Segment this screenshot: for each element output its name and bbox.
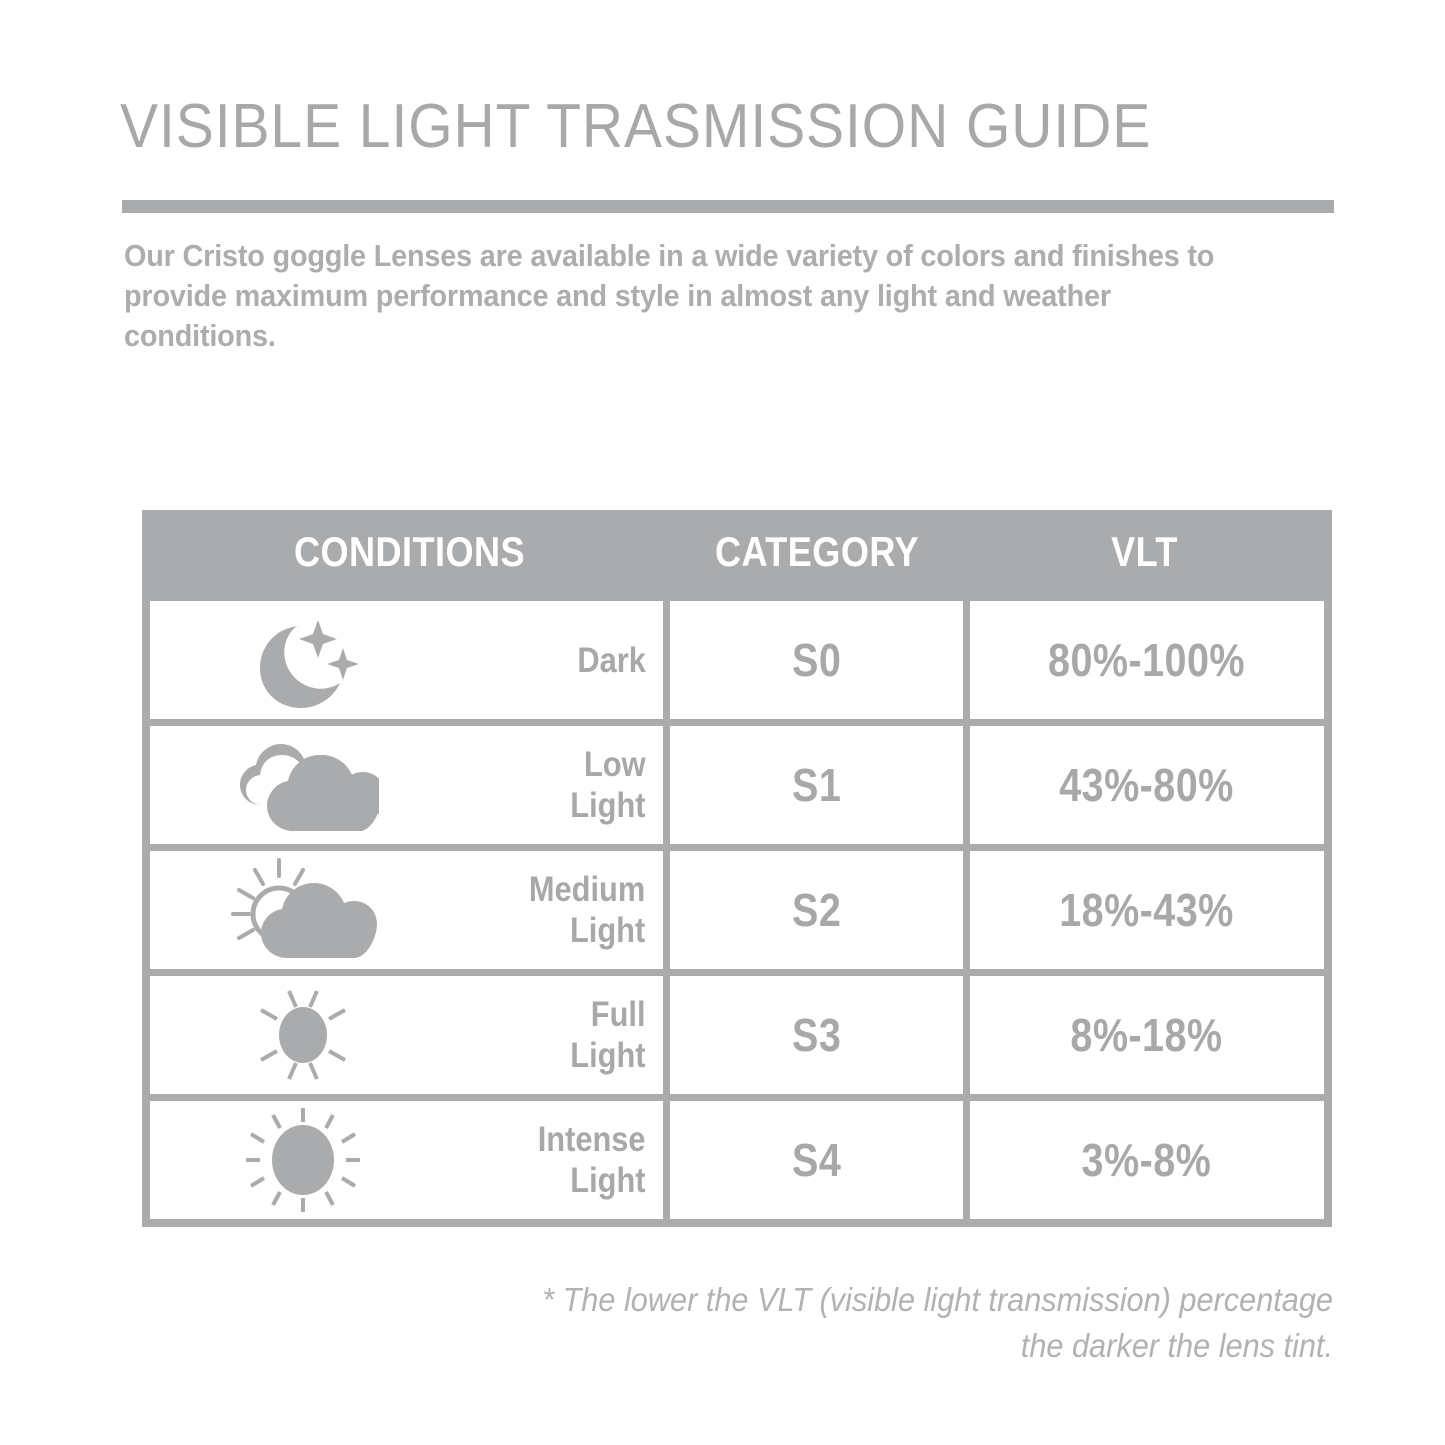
- table-row: Low Light S1 43%-80%: [150, 726, 1324, 844]
- condition-label: Dark: [577, 640, 645, 681]
- vlt-label: 43%-80%: [1060, 758, 1235, 812]
- category-label: S0: [792, 633, 841, 687]
- condition-label: Medium Light: [529, 869, 645, 951]
- conditions-cell: Full Light: [150, 976, 663, 1094]
- column-header-conditions: CONDITIONS: [186, 528, 632, 576]
- vlt-label: 18%-43%: [1060, 883, 1235, 937]
- category-label: S4: [792, 1133, 841, 1187]
- vlt-cell: 43%-80%: [970, 726, 1324, 844]
- vlt-guide-page: VISIBLE LIGHT TRASMISSION GUIDE Our Cris…: [0, 0, 1445, 1445]
- vlt-cell: 18%-43%: [970, 851, 1324, 969]
- page-title: VISIBLE LIGHT TRASMISSION GUIDE: [120, 92, 1252, 162]
- category-cell: S1: [670, 726, 962, 844]
- condition-label: Full Light: [570, 994, 645, 1076]
- category-cell: S3: [670, 976, 962, 1094]
- sun-small-icon: [220, 983, 385, 1087]
- vlt-cell: 80%-100%: [970, 601, 1324, 719]
- sun-behind-cloud-icon: [220, 858, 385, 962]
- category-cell: S2: [670, 851, 962, 969]
- column-header-category: CATEGORY: [690, 528, 945, 576]
- vlt-table: CONDITIONS CATEGORY VLT Dark S0 80: [142, 510, 1332, 1227]
- table-row: Intense Light S4 3%-8%: [150, 1101, 1324, 1219]
- category-cell: S0: [670, 601, 962, 719]
- column-header-vlt: VLT: [990, 528, 1299, 576]
- title-divider: [122, 200, 1334, 213]
- vlt-label: 80%-100%: [1048, 633, 1245, 687]
- category-label: S1: [792, 758, 841, 812]
- category-label: S2: [792, 883, 841, 937]
- sun-large-icon: [220, 1108, 385, 1212]
- table-row: Full Light S3 8%-18%: [150, 976, 1324, 1094]
- category-cell: S4: [670, 1101, 962, 1219]
- clouds-icon: [220, 733, 385, 837]
- conditions-cell: Dark: [150, 601, 663, 719]
- conditions-cell: Low Light: [150, 726, 663, 844]
- intro-paragraph: Our Cristo goggle Lenses are available i…: [124, 236, 1249, 356]
- vlt-cell: 3%-8%: [970, 1101, 1324, 1219]
- condition-label: Low Light: [570, 744, 645, 826]
- table-row: Medium Light S2 18%-43%: [150, 851, 1324, 969]
- category-label: S3: [792, 1008, 841, 1062]
- moon-stars-icon: [220, 608, 385, 712]
- vlt-cell: 8%-18%: [970, 976, 1324, 1094]
- table-header-row: CONDITIONS CATEGORY VLT: [150, 510, 1324, 594]
- condition-label: Intense Light: [538, 1119, 646, 1201]
- vlt-label: 3%-8%: [1082, 1133, 1212, 1187]
- conditions-cell: Intense Light: [150, 1101, 663, 1219]
- footnote: * The lower the VLT (visible light trans…: [496, 1277, 1333, 1369]
- vlt-label: 8%-18%: [1071, 1008, 1223, 1062]
- table-row: Dark S0 80%-100%: [150, 601, 1324, 719]
- conditions-cell: Medium Light: [150, 851, 663, 969]
